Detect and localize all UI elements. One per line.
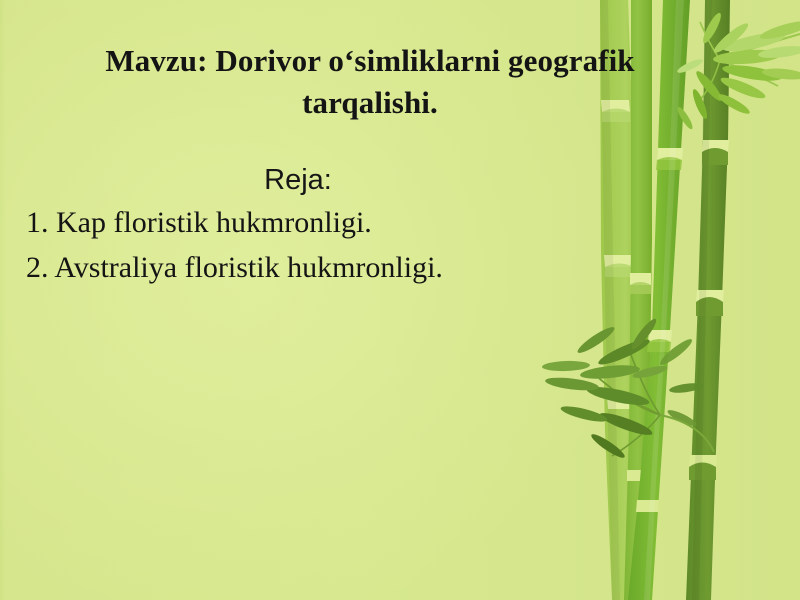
title-line-2: tarqalishi. xyxy=(40,82,700,124)
presentation-slide: Mavzu: Dorivor oʻsimliklarni geografik t… xyxy=(0,0,800,600)
list-item: 1. Kap floristik hukmronligi. xyxy=(18,200,718,245)
title-line-1: Mavzu: Dorivor oʻsimliklarni geografik xyxy=(40,40,700,82)
slide-title: Mavzu: Dorivor oʻsimliklarni geografik t… xyxy=(40,40,700,124)
plan-heading: Reja: xyxy=(18,160,718,200)
list-item: 2. Avstraliya floristik hukmronligi. xyxy=(18,245,718,290)
slide-body: Reja: 1. Kap floristik hukmronligi. 2. A… xyxy=(18,160,718,290)
